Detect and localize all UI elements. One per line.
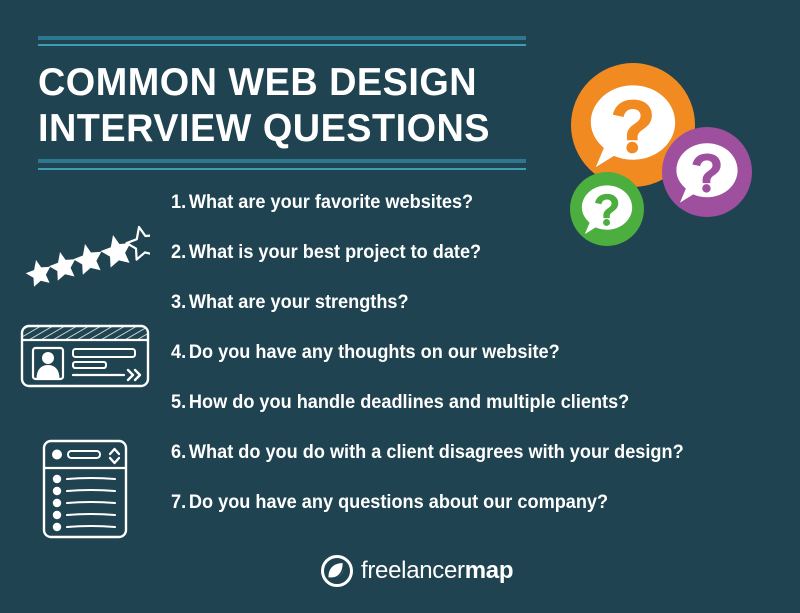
list-item: 3.What are your strengths? [171, 289, 729, 339]
logo-text-light: freelancer [361, 557, 465, 584]
list-item: 1.What are your favorite websites? [171, 189, 729, 239]
question-number: 4. [171, 339, 186, 365]
speech-bubble-question-mark-icon [662, 127, 752, 217]
question-number: 1. [171, 189, 186, 215]
sort-arrows-icon [110, 449, 119, 463]
question-number: 6. [171, 439, 186, 465]
title-rule-top-thick [38, 36, 526, 40]
title-rule-bottom-thick [38, 159, 526, 163]
question-bubble-purple [662, 127, 752, 217]
list-item: 6.What do you do with a client disagrees… [171, 439, 729, 489]
question-text: Do you have any thoughts on our website? [189, 341, 560, 363]
title-rule-top-thin [38, 44, 526, 46]
logo-text-bold: map [465, 557, 513, 584]
infographic-canvas: COMMON WEB DESIGN INTERVIEW QUESTIONS 1.… [0, 0, 800, 613]
question-number: 2. [171, 239, 186, 265]
freelancermap-logo[interactable]: freelancermap [320, 551, 496, 591]
question-text: What is your best project to date? [189, 241, 481, 263]
list-item: 2.What is your best project to date? [171, 239, 729, 289]
question-number: 7. [171, 489, 186, 515]
freelancermap-wordmark: freelancermap [361, 559, 513, 583]
page-title: COMMON WEB DESIGN INTERVIEW QUESTIONS [38, 60, 542, 152]
page-title-line-1: COMMON WEB DESIGN [38, 60, 542, 106]
question-text: Do you have any questions about our comp… [189, 491, 608, 513]
speech-bubble-question-mark-icon [570, 172, 644, 246]
avatar [37, 352, 60, 379]
question-number: 5. [171, 389, 186, 415]
title-rule-bottom-thin [38, 168, 526, 170]
checklist-icon [40, 437, 130, 541]
list-item: 7.Do you have any questions about our co… [171, 489, 729, 539]
list-item: 4.Do you have any thoughts on our websit… [171, 339, 729, 389]
question-text: What are your strengths? [189, 291, 409, 313]
question-text: What are your favorite websites? [189, 191, 473, 213]
list-item: 5.How do you handle deadlines and multip… [171, 389, 729, 439]
page-title-line-2: INTERVIEW QUESTIONS [38, 106, 542, 152]
question-list: 1.What are your favorite websites? 2.Wha… [171, 189, 771, 539]
question-text: How do you handle deadlines and multiple… [189, 391, 629, 413]
freelancermap-logo-icon [320, 554, 354, 588]
chevron-double-right-icon [128, 370, 140, 380]
question-number: 3. [171, 289, 186, 315]
id-card-icon [18, 318, 154, 394]
star-rating-icon [22, 224, 150, 290]
question-text: What do you do with a client disagrees w… [189, 441, 684, 463]
question-bubble-green [570, 172, 644, 246]
